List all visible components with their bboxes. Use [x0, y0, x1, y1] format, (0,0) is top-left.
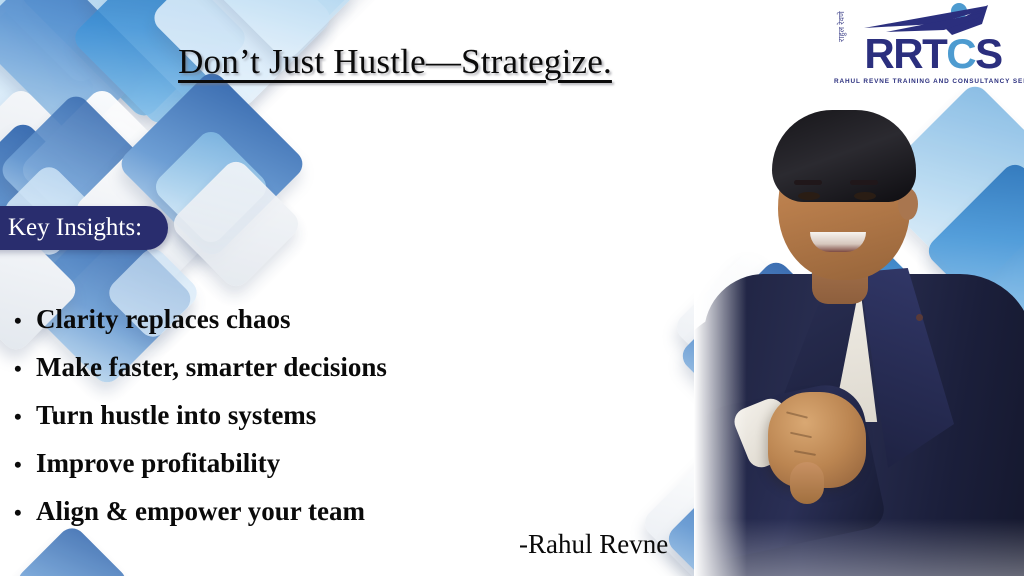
presenter-hair	[772, 110, 916, 202]
decor-diamond	[0, 3, 99, 173]
attribution: -Rahul Revne	[519, 529, 668, 560]
logo-wordmark-rrt: RRT	[864, 30, 946, 77]
logo-tagline: RAHUL REVNE TRAINING AND CONSULTANCY SER…	[834, 78, 1018, 85]
presenter-eyebrow-left	[794, 180, 822, 185]
decor-diamond	[168, 156, 304, 292]
presenter-eye-left	[798, 192, 820, 200]
bullet-marker: •	[14, 489, 36, 536]
decor-diamond	[150, 126, 272, 248]
list-item: • Clarity replaces chaos	[14, 296, 534, 344]
presenter-photo	[694, 96, 1024, 576]
bullet-marker: •	[14, 345, 36, 392]
list-item: • Improve profitability	[14, 440, 534, 488]
list-item-label: Clarity replaces chaos	[36, 296, 290, 343]
list-item-label: Improve profitability	[36, 440, 280, 487]
slide-canvas: Don’t Just Hustle—Strategize. राहुल रेवण…	[0, 0, 1024, 576]
logo-wordmark: RRTCS	[848, 32, 1018, 76]
key-insights-banner: Key Insights:	[0, 206, 168, 250]
brand-logo[interactable]: राहुल रेवणे RRTCS RAHUL REVNE TRAINING A…	[832, 2, 1018, 98]
page-title: Don’t Just Hustle—Strategize.	[0, 42, 790, 82]
presenter-thumb	[790, 462, 824, 504]
presenter-lapel-pin	[916, 314, 923, 321]
list-item: • Make faster, smarter decisions	[14, 344, 534, 392]
logo-devanagari-script: राहुल रेवणे	[836, 11, 847, 42]
list-item-label: Turn hustle into systems	[36, 392, 316, 439]
bullet-marker: •	[14, 297, 36, 344]
presenter-eyebrow-right	[850, 180, 878, 185]
list-item-label: Make faster, smarter decisions	[36, 344, 387, 391]
presenter-eye-right	[854, 192, 876, 200]
list-item: • Turn hustle into systems	[14, 392, 534, 440]
key-insights-label: Key Insights:	[8, 214, 142, 242]
list-item-label: Align & empower your team	[36, 488, 365, 535]
logo-wordmark-c: C	[946, 30, 975, 77]
bullet-marker: •	[14, 393, 36, 440]
bullet-marker: •	[14, 441, 36, 488]
list-item: • Align & empower your team	[14, 488, 534, 536]
insights-list: • Clarity replaces chaos • Make faster, …	[14, 296, 534, 536]
logo-wordmark-s: S	[975, 30, 1002, 77]
